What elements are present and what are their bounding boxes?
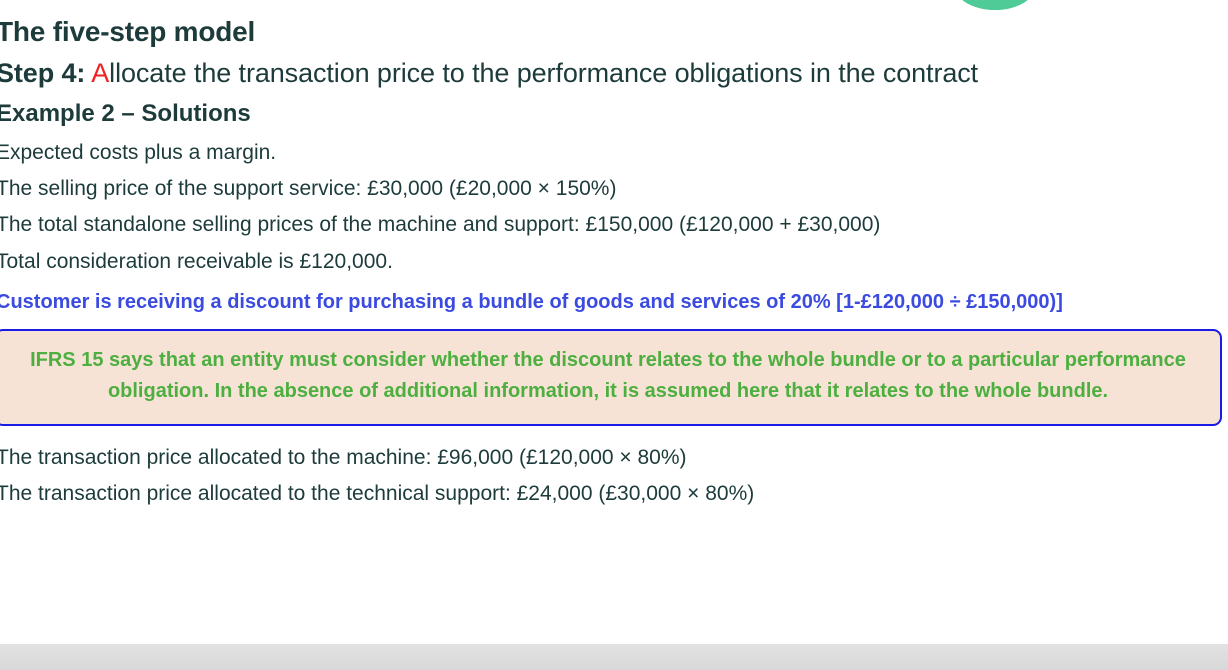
allocation-line: The transaction price allocated to the t… [0, 476, 1228, 512]
ifrs-callout-text: IFRS 15 says that an entity must conside… [10, 345, 1206, 408]
slide-footer-strip [0, 644, 1228, 670]
slide-content-area: The five-step model Step 4: Allocate the… [0, 0, 1228, 512]
body-line: The total standalone selling prices of t… [0, 207, 1228, 243]
body-line: The selling price of the support service… [0, 171, 1228, 207]
body-line: Expected costs plus a margin. [0, 135, 1228, 171]
slide-title: The five-step model [0, 16, 1228, 47]
slide-subtitle: Example 2 – Solutions [0, 100, 1228, 129]
body-text-block: Expected costs plus a margin. The sellin… [0, 135, 1228, 279]
step-heading-lead: Step 4: [0, 58, 85, 88]
discount-highlight-text: Customer is receiving a discount for pur… [0, 287, 1228, 318]
allocation-result-block: The transaction price allocated to the m… [0, 440, 1228, 512]
presentation-slide: The five-step model Step 4: Allocate the… [0, 0, 1228, 670]
ifrs-callout-box: IFRS 15 says that an entity must conside… [0, 329, 1222, 426]
step-heading: Step 4: Allocate the transaction price t… [0, 56, 1228, 91]
body-line: Total consideration receivable is £120,0… [0, 244, 1228, 280]
step-heading-accent-letter: A [91, 58, 109, 88]
step-heading-rest: llocate the transaction price to the per… [109, 58, 978, 88]
allocation-line: The transaction price allocated to the m… [0, 440, 1228, 476]
